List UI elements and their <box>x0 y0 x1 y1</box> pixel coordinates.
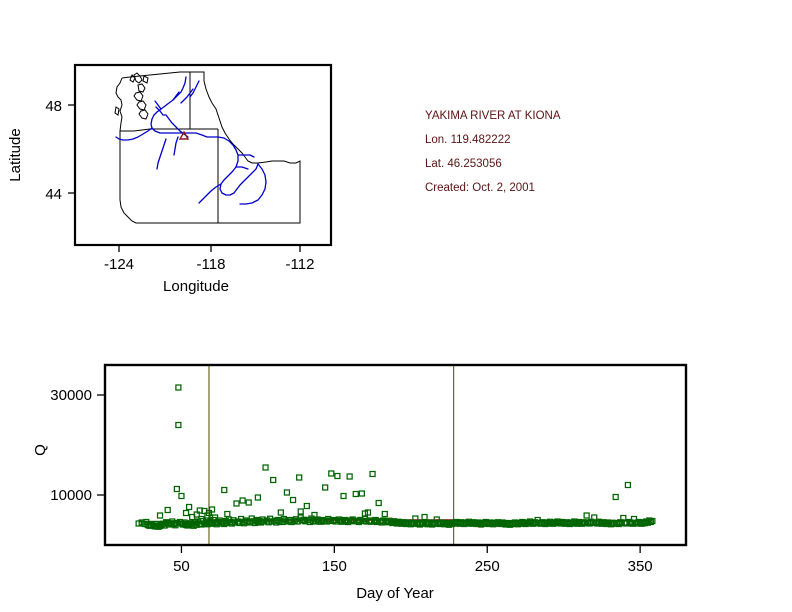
chart-ytick-label: 30000 <box>50 387 92 404</box>
station-longitude: Lon. 119.482222 <box>425 134 510 146</box>
chart-axis-layer: 501502503501000030000 <box>50 387 652 575</box>
data-point <box>176 385 181 390</box>
chart-xaxis-title: Day of Year <box>356 585 434 602</box>
map-x-axis: -124 -118 -112 Longitude <box>104 245 314 295</box>
map-y-axis: 48 44 Latitude <box>7 98 75 203</box>
data-point <box>297 475 302 480</box>
created-date: Created: Oct. 2, 2001 <box>425 182 535 194</box>
map-xtick-1: -118 <box>197 256 226 273</box>
data-point <box>335 474 340 479</box>
discharge-scatter-panel: 501502503501000030000 Day of Year Q <box>0 352 792 612</box>
data-point <box>376 501 381 506</box>
data-point <box>347 474 352 479</box>
map-ytick-0: 48 <box>45 98 62 115</box>
data-point <box>613 495 618 500</box>
chart-xtick-label: 350 <box>628 558 653 575</box>
data-point <box>222 488 227 493</box>
map-panel: -124 -118 -112 Longitude 48 44 Latitude <box>0 45 360 355</box>
data-point <box>174 487 179 492</box>
data-point <box>187 505 192 510</box>
data-point <box>284 490 289 495</box>
data-point <box>370 472 375 477</box>
data-point <box>382 512 387 517</box>
chart-yaxis-title: Q <box>32 444 49 456</box>
chart-xtick-label: 150 <box>322 558 347 575</box>
data-point <box>291 498 296 503</box>
river-network <box>116 77 266 204</box>
data-point <box>225 512 230 517</box>
data-point <box>184 511 189 516</box>
data-point <box>165 508 170 513</box>
data-point <box>422 515 427 520</box>
data-point <box>271 478 276 483</box>
chart-frame <box>105 365 686 545</box>
data-point <box>240 498 245 503</box>
chart-xtick-label: 50 <box>173 558 190 575</box>
data-point <box>584 513 589 518</box>
chart-render-layer <box>136 365 655 545</box>
data-point <box>298 509 303 514</box>
chart-xtick-label: 250 <box>475 558 500 575</box>
data-point <box>255 495 260 500</box>
map-xaxis-title: Longitude <box>163 278 229 295</box>
data-point <box>329 471 334 476</box>
data-point <box>359 491 364 496</box>
station-name: YAKIMA RIVER AT KIONA <box>425 110 561 122</box>
data-point <box>353 492 358 497</box>
state-outlines <box>115 72 300 223</box>
data-point <box>179 494 184 499</box>
chart-ytick-label: 10000 <box>50 487 92 504</box>
data-point <box>278 510 283 515</box>
figure-canvas: -124 -118 -112 Longitude 48 44 Latitude … <box>0 0 792 611</box>
data-point <box>625 483 630 488</box>
map-yaxis-title: Latitude <box>7 128 24 181</box>
data-series <box>136 385 655 529</box>
map-xtick-2: -112 <box>286 256 315 273</box>
map-frame <box>75 65 331 245</box>
map-ytick-1: 44 <box>45 186 62 203</box>
data-point <box>263 465 268 470</box>
data-point <box>176 423 181 428</box>
data-point <box>304 504 309 509</box>
map-xtick-0: -124 <box>104 256 134 273</box>
data-point <box>246 500 251 505</box>
data-point <box>158 513 163 518</box>
data-point <box>323 485 328 490</box>
station-info-block: YAKIMA RIVER AT KIONA Lon. 119.482222 La… <box>425 105 745 215</box>
data-point <box>341 494 346 499</box>
data-point <box>234 501 239 506</box>
station-latitude: Lat. 46.253056 <box>425 158 502 170</box>
